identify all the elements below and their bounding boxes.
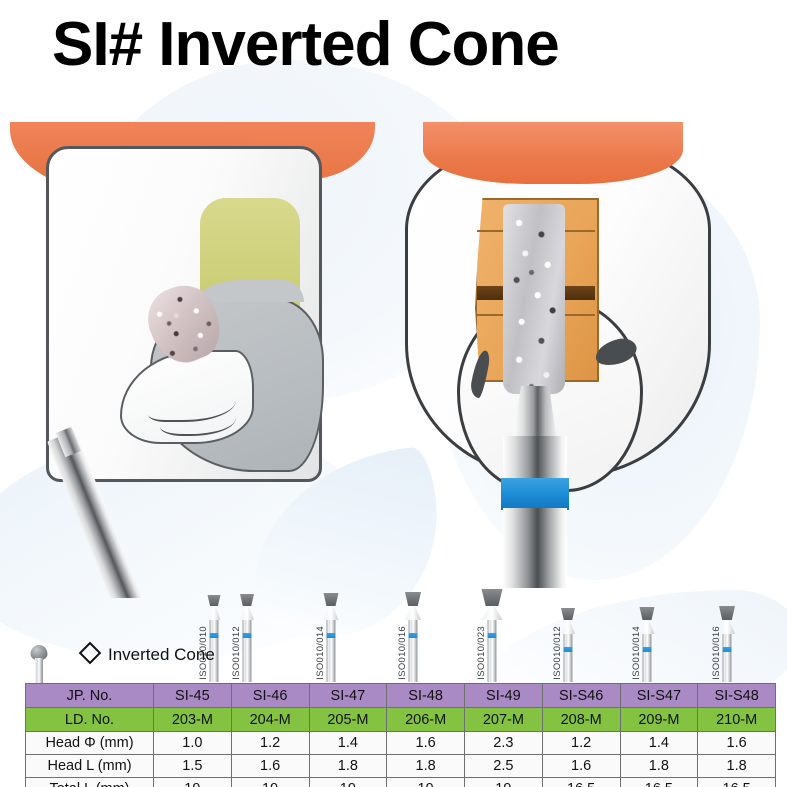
bur-shaft [723,634,732,682]
cell-total-length-1: 19 [154,778,232,787]
bur-grit-band [488,633,497,638]
cell-total-length-5: 19 [465,778,543,787]
cell-head-length-7: 1.8 [620,755,698,778]
cell-ld-no-7: 209-M [620,708,698,732]
cell-head-diameter-3: 1.4 [309,732,387,755]
bur-head-inverted-cone [640,607,655,620]
cell-head-length-3: 1.8 [309,755,387,778]
bur-iso-code: ISO010/014 [631,626,642,680]
cell-jp-no-8: SI-S48 [698,684,776,708]
row-label-head-diameter: Head Φ (mm) [26,732,154,755]
cell-head-diameter-1: 1.0 [154,732,232,755]
cell-ld-no-5: 207-M [465,708,543,732]
bur-shaft [488,620,497,682]
bur-grit-band [243,633,252,638]
bur-taper [482,606,503,620]
bur-taper [324,606,339,620]
bur-head-inverted-cone [561,608,575,620]
bur-sample: ISO010/014 [602,596,692,682]
cell-head-length-8: 1.8 [698,755,776,778]
cell-ld-no-3: 205-M [309,708,387,732]
cell-total-length-3: 19 [309,778,387,787]
cell-ld-no-2: 204-M [231,708,309,732]
cell-jp-no-2: SI-46 [231,684,309,708]
bur-shaft [243,620,252,682]
bur-grit-band [723,647,732,652]
specification-table: JP. No.SI-45SI-46SI-47SI-48SI-49SI-S46SI… [25,683,776,787]
cell-head-length-5: 2.5 [465,755,543,778]
bur-taper [240,606,254,620]
bur-iso-code: ISO010/012 [231,626,242,680]
bur-head-inverted-cone [240,594,254,606]
bur-sample: ISO010/016 [682,596,772,682]
cell-jp-no-5: SI-49 [465,684,543,708]
bur-head-inverted-cone [482,589,503,606]
row-label-jp-no: JP. No. [26,684,154,708]
cell-total-length-4: 19 [387,778,465,787]
cell-head-diameter-5: 2.3 [465,732,543,755]
bur-grit-band [643,647,652,652]
cell-jp-no-4: SI-48 [387,684,465,708]
cell-total-length-8: 16.5 [698,778,776,787]
cell-ld-no-4: 206-M [387,708,465,732]
bur-iso-code: ISO010/016 [711,626,722,680]
cell-jp-no-1: SI-45 [154,684,232,708]
cell-head-length-4: 1.8 [387,755,465,778]
table-row-head-diameter: Head Φ (mm)1.01.21.41.62.31.21.41.6 [26,732,776,755]
bur-shaft [327,620,336,682]
bur-size-strip: ISO010/010ISO010/012ISO010/014ISO010/016… [0,596,787,682]
bur-taper [405,606,421,620]
bur-iso-code: ISO010/012 [552,626,563,680]
cell-jp-no-3: SI-47 [309,684,387,708]
bur-head-inverted-cone [324,593,339,606]
row-label-head-length: Head L (mm) [26,755,154,778]
cell-head-length-2: 1.6 [231,755,309,778]
bur-sample: ISO010/014 [286,596,376,682]
bur-shaft [643,634,652,682]
bur-shaft [564,634,573,682]
bur-sample: ISO010/012 [523,596,613,682]
cell-jp-no-6: SI-S46 [542,684,620,708]
cell-head-length-1: 1.5 [154,755,232,778]
right-illustration [395,118,787,598]
bur-taper [561,620,575,634]
cell-ld-no-6: 208-M [542,708,620,732]
bur-grit-band [409,633,418,638]
bur-iso-code: ISO010/023 [476,626,487,680]
bur-shank-upper [503,436,567,480]
shape-legend-label: Inverted Cone [108,645,215,664]
table-row-ld-no: LD. No.203-M204-M205-M206-M207-M208-M209… [26,708,776,732]
shape-legend: Inverted Cone [82,645,215,665]
bur-head-inverted-cone [405,592,421,606]
cell-jp-no-7: SI-S47 [620,684,698,708]
table-row-head-length: Head L (mm)1.51.61.81.82.51.61.81.8 [26,755,776,778]
cell-head-diameter-6: 1.2 [542,732,620,755]
cell-ld-no-1: 203-M [154,708,232,732]
cell-total-length-7: 16.5 [620,778,698,787]
bur-sample: ISO010/012 [202,596,292,682]
table-row-jp-no: JP. No.SI-45SI-46SI-47SI-48SI-49SI-S46SI… [26,684,776,708]
left-illustration [0,118,400,598]
bur-grit-band [564,647,573,652]
gum-tissue [423,122,683,184]
bur-iso-code: ISO010/016 [397,626,408,680]
product-spec-page: SI# Inverted Cone ISO010/010ISO010/012IS… [0,0,787,787]
cell-head-diameter-2: 1.2 [231,732,309,755]
row-label-ld-no: LD. No. [26,708,154,732]
row-label-total-length: Total L (mm) [26,778,154,787]
cell-head-length-6: 1.6 [542,755,620,778]
bur-shank-lower [503,508,567,588]
page-title: SI# Inverted Cone [52,12,559,77]
bur-iso-code: ISO010/014 [315,626,326,680]
bur-sample: ISO010/016 [368,596,458,682]
bur-shaft [409,620,418,682]
cell-total-length-2: 19 [231,778,309,787]
cell-total-length-6: 16.5 [542,778,620,787]
diamond-marker-icon [79,642,102,665]
bur-grit-band [327,633,336,638]
table-row-total-length: Total L (mm)191919191916.516.516.5 [26,778,776,787]
cell-head-diameter-8: 1.6 [698,732,776,755]
cell-head-diameter-7: 1.4 [620,732,698,755]
grit-band-blue [501,478,569,510]
bur-head-inverted-cone [719,606,735,620]
cell-ld-no-8: 210-M [698,708,776,732]
cell-head-diameter-4: 1.6 [387,732,465,755]
diamond-bur-head [503,204,565,394]
